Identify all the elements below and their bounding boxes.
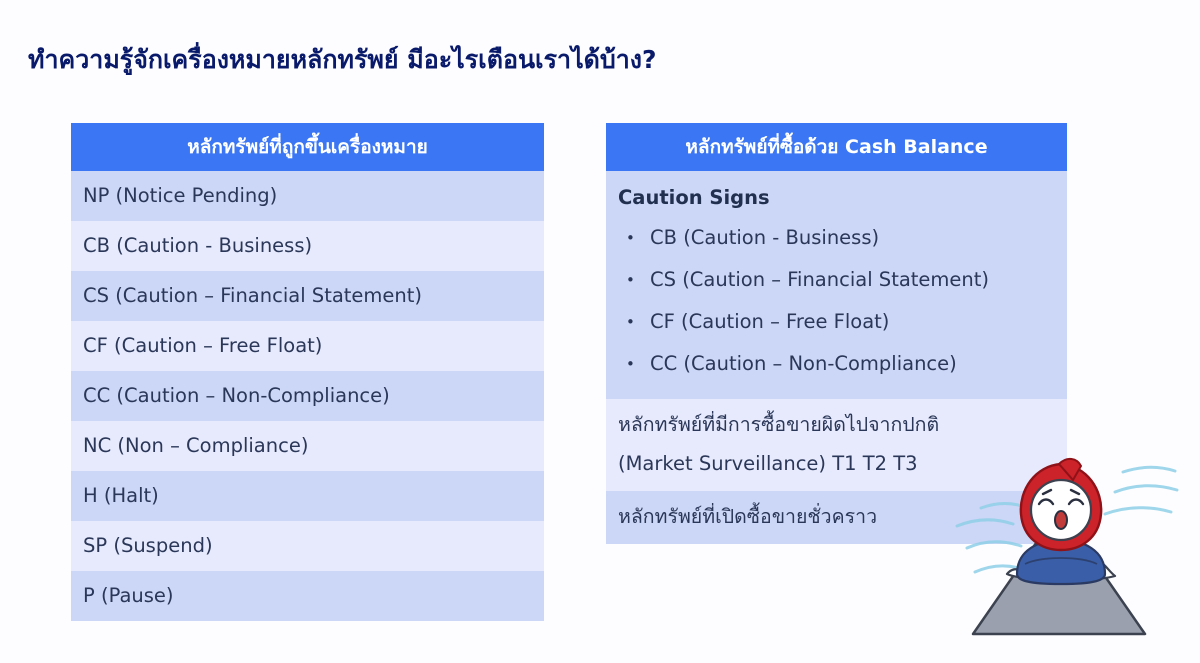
caution-signs-list: • CB (Caution - Business) • CS (Caution … xyxy=(618,217,1055,385)
list-item-label: CB (Caution - Business) xyxy=(650,226,879,249)
table-row[interactable]: CS (Caution – Financial Statement) xyxy=(71,271,544,321)
character-body-icon xyxy=(1017,540,1105,584)
list-item[interactable]: • CF (Caution – Free Float) xyxy=(618,301,1055,343)
cash-balance-table: หลักทรัพย์ที่ซื้อด้วย Cash Balance Cauti… xyxy=(606,123,1067,544)
table-row[interactable]: P (Pause) xyxy=(71,571,544,621)
table-row[interactable]: CB (Caution - Business) xyxy=(71,221,544,271)
temporary-trading-block[interactable]: หลักทรัพย์ที่เปิดซื้อขายชั่วคราว xyxy=(606,491,1067,544)
bullet-icon: • xyxy=(626,217,635,259)
table-row[interactable]: SP (Suspend) xyxy=(71,521,544,571)
list-item[interactable]: • CC (Caution – Non-Compliance) xyxy=(618,343,1055,385)
temporary-trading-line-1: หลักทรัพย์ที่เปิดซื้อขายชั่วคราว xyxy=(618,497,1055,536)
table-row[interactable]: H (Halt) xyxy=(71,471,544,521)
right-table-header: หลักทรัพย์ที่ซื้อด้วย Cash Balance xyxy=(606,123,1067,171)
page-title: ทำความรู้จักเครื่องหมายหลักทรัพย์ มีอะไร… xyxy=(28,40,657,80)
list-item[interactable]: • CS (Caution – Financial Statement) xyxy=(618,259,1055,301)
wind-lines-icon xyxy=(1105,467,1177,514)
table-row[interactable]: CC (Caution – Non-Compliance) xyxy=(71,371,544,421)
table-row[interactable]: CF (Caution – Free Float) xyxy=(71,321,544,371)
list-item[interactable]: • CB (Caution - Business) xyxy=(618,217,1055,259)
list-item-label: CC (Caution – Non-Compliance) xyxy=(650,352,957,375)
market-surveillance-block[interactable]: หลักทรัพย์ที่มีการซื้อขายผิดไปจากปกติ (M… xyxy=(606,399,1067,491)
left-table-header: หลักทรัพย์ที่ถูกขึ้นเครื่องหมาย xyxy=(71,123,544,171)
bullet-icon: • xyxy=(626,301,635,343)
caution-signs-block: Caution Signs • CB (Caution - Business) … xyxy=(606,171,1067,399)
market-surveillance-line-2: (Market Surveillance) T1 T2 T3 xyxy=(618,444,1055,483)
bullet-icon: • xyxy=(626,343,635,385)
securities-signs-table: หลักทรัพย์ที่ถูกขึ้นเครื่องหมาย NP (Noti… xyxy=(71,123,544,621)
caution-signs-title: Caution Signs xyxy=(618,185,1055,211)
table-row[interactable]: NC (Non – Compliance) xyxy=(71,421,544,471)
list-item-label: CS (Caution – Financial Statement) xyxy=(650,268,989,291)
bullet-icon: • xyxy=(626,259,635,301)
table-row[interactable]: NP (Notice Pending) xyxy=(71,171,544,221)
list-item-label: CF (Caution – Free Float) xyxy=(650,310,889,333)
market-surveillance-line-1: หลักทรัพย์ที่มีการซื้อขายผิดไปจากปกติ xyxy=(618,405,1055,444)
